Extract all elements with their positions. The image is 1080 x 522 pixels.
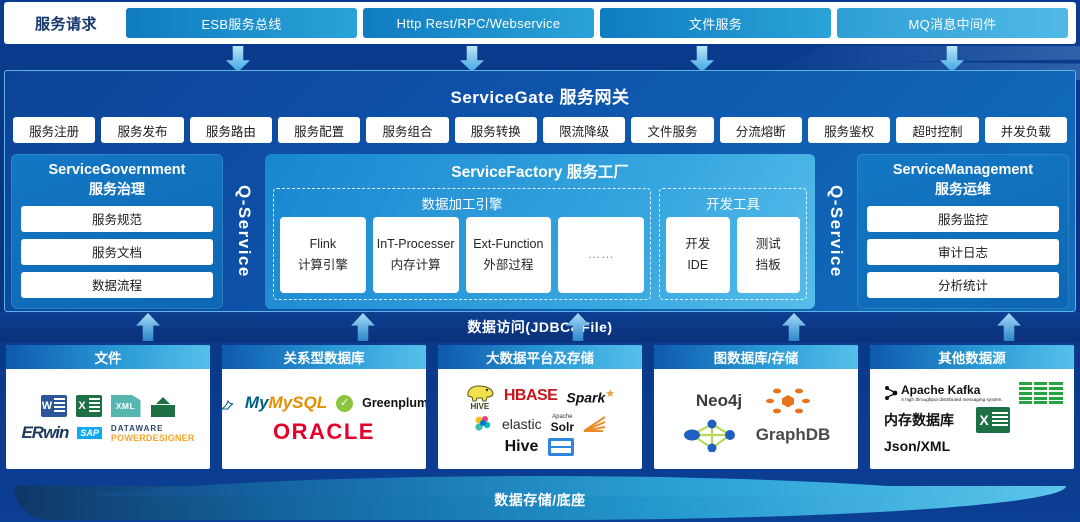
solr-sunburst-icon xyxy=(583,415,607,433)
service-management-card[interactable]: ServiceManagement 服务运维 服务监控 审计日志 分析统计 xyxy=(857,154,1069,309)
engine-tile-more[interactable]: …… xyxy=(558,217,644,293)
engine-tile-int-processer[interactable]: InT-Processer 内存计算 xyxy=(373,217,459,293)
request-button-http-rest[interactable]: Http Rest/RPC/Webservice xyxy=(363,8,594,38)
service-gate-capability-list: 服务注册 服务发布 服务路由 服务配置 服务组合 服务转换 限流降级 文件服务 … xyxy=(5,108,1075,143)
in-memory-db-label: 内存数据库 xyxy=(884,410,954,430)
data-source-card-list: 文件 W X XML ERwin SAP DATAWARE POWERDESIG… xyxy=(4,343,1076,471)
powerdesigner-logo: POWERDESIGNER xyxy=(111,433,195,443)
hadoop-hive-elephant-icon xyxy=(465,382,495,402)
service-request-label: 服务请求 xyxy=(12,13,120,34)
elastic-icon xyxy=(473,415,493,433)
gate-chip-transform[interactable]: 服务转换 xyxy=(455,117,537,143)
arrow-down-1 xyxy=(226,46,250,72)
data-source-card-relational-db[interactable]: 关系型数据库 MyMySQL ✓ Greenplum ORACLE xyxy=(220,343,428,471)
engine-tile-int-processer-line1: InT-Processer xyxy=(377,234,455,255)
elastic-logo: elastic xyxy=(502,416,542,432)
graphdb-ontotext-icon xyxy=(760,386,816,416)
q-service-left-text: Q-Service xyxy=(234,185,254,278)
gate-chip-register[interactable]: 服务注册 xyxy=(13,117,95,143)
spark-logo: Spark★ xyxy=(566,387,615,406)
service-government-title-en: ServiceGovernment xyxy=(21,162,213,179)
dataware-logo: DATAWARE xyxy=(111,424,164,433)
engine-tile-ext-function-line2: 外部过程 xyxy=(483,255,533,276)
kafka-icon xyxy=(884,385,898,401)
engine-tile-int-processer-line2: 内存计算 xyxy=(391,255,441,276)
data-processing-engine-title: 数据加工引擎 xyxy=(280,193,644,213)
data-processing-engine-group: 数据加工引擎 Flink 计算引擎 InT-Processer 内存计算 Ext… xyxy=(273,188,651,300)
gate-chip-ratelimit[interactable]: 限流降级 xyxy=(543,117,625,143)
arrow-down-4 xyxy=(940,46,964,72)
erwin-logo: ERwin xyxy=(21,423,68,443)
management-item-monitor[interactable]: 服务监控 xyxy=(867,206,1059,232)
excel-icon-letter: X xyxy=(76,395,89,417)
card-title-file: 文件 xyxy=(6,345,210,369)
tools-tile-test-line1: 测试 xyxy=(756,234,781,255)
neo4j-graph-icon xyxy=(682,418,742,452)
tools-tile-ide-line1: 开发 xyxy=(685,234,710,255)
card-title-graphdb: 图数据库/存储 xyxy=(654,345,858,369)
management-item-analytics[interactable]: 分析统计 xyxy=(867,272,1059,298)
service-gate-title: ServiceGate 服务网关 xyxy=(5,71,1075,108)
data-source-card-graphdb[interactable]: 图数据库/存储 Neo4j xyxy=(652,343,860,471)
apache-kafka-logo-text: Apache Kafka xyxy=(901,383,980,397)
card-title-other: 其他数据源 xyxy=(870,345,1074,369)
greenplum-logo: Greenplum xyxy=(362,396,428,410)
hive-logo-small: HIVE xyxy=(471,402,490,411)
service-government-card[interactable]: ServiceGovernment 服务治理 服务规范 服务文档 数据流程 xyxy=(11,154,223,309)
request-button-file-service[interactable]: 文件服务 xyxy=(600,8,831,38)
governance-item-dataflow[interactable]: 数据流程 xyxy=(21,272,213,298)
apache-kafka-logo: Apache Kafka A high throughput distribut… xyxy=(901,383,1003,402)
data-source-card-file[interactable]: 文件 W X XML ERwin SAP DATAWARE POWERDESIG… xyxy=(4,343,212,471)
q-service-label-left: Q-Service xyxy=(223,154,265,309)
gate-chip-config[interactable]: 服务配置 xyxy=(278,117,360,143)
tools-tile-test-line2: 挡板 xyxy=(756,255,781,276)
card-title-relational-db: 关系型数据库 xyxy=(222,345,426,369)
hive-file-icon xyxy=(547,437,575,457)
engine-tile-ext-function[interactable]: Ext-Function 外部过程 xyxy=(466,217,552,293)
sap-logo: SAP xyxy=(77,427,102,439)
solr-logo: Solr xyxy=(551,420,574,434)
q-service-right-text: Q-Service xyxy=(826,185,846,278)
service-factory-card: ServiceFactory 服务工厂 数据加工引擎 Flink 计算引擎 In… xyxy=(265,154,815,309)
request-button-esb[interactable]: ESB服务总线 xyxy=(126,8,357,38)
database-green-icon xyxy=(150,395,176,417)
kafka-tagline: A high throughput distributed messaging … xyxy=(901,397,1003,402)
service-management-title-cn: 服务运维 xyxy=(867,179,1059,199)
green-table-icon xyxy=(1019,382,1063,404)
data-storage-foundation: 数据存储/底座 xyxy=(0,476,1080,522)
engine-tile-ext-function-line1: Ext-Function xyxy=(473,234,543,255)
service-request-bar: 服务请求 ESB服务总线 Http Rest/RPC/Webservice 文件… xyxy=(4,2,1076,44)
word-icon: W xyxy=(41,395,67,417)
request-button-mq[interactable]: MQ消息中间件 xyxy=(837,8,1068,38)
mysql-logo: MyMySQL xyxy=(245,393,327,413)
data-access-label: 数据访问(JDBC&File) xyxy=(467,317,612,337)
oracle-logo: ORACLE xyxy=(273,419,375,445)
q-service-label-right: Q-Service xyxy=(815,154,857,309)
greenplum-icon: ✓ xyxy=(336,395,353,412)
arrow-down-2 xyxy=(460,46,484,72)
governance-item-document[interactable]: 服务文档 xyxy=(21,239,213,265)
gate-chip-timeout[interactable]: 超时控制 xyxy=(896,117,978,143)
hbase-logo: HBASE xyxy=(504,387,558,405)
neo4j-logo: Neo4j xyxy=(696,391,742,411)
excel-icon: X xyxy=(76,395,102,417)
engine-tile-flink[interactable]: Flink 计算引擎 xyxy=(280,217,366,293)
tools-tile-ide[interactable]: 开发 IDE xyxy=(666,217,730,293)
card-title-bigdata: 大数据平台及存储 xyxy=(438,345,642,369)
mysql-dolphin-icon xyxy=(220,397,236,410)
service-government-title-cn: 服务治理 xyxy=(21,179,213,199)
spark-logo-text: Spark xyxy=(566,389,605,405)
data-source-card-other[interactable]: 其他数据源 Apache Kafka A high throughput dis… xyxy=(868,343,1076,471)
service-management-title-en: ServiceManagement xyxy=(867,162,1059,179)
engine-tile-flink-line1: Flink xyxy=(310,234,336,255)
gate-chip-concurrency[interactable]: 并发负载 xyxy=(985,117,1067,143)
governance-item-spec[interactable]: 服务规范 xyxy=(21,206,213,232)
mysql-logo-text: MySQL xyxy=(269,393,328,412)
development-tools-title: 开发工具 xyxy=(666,193,800,213)
service-platform-panel: ServiceGate 服务网关 服务注册 服务发布 服务路由 服务配置 服务组… xyxy=(4,70,1076,312)
data-storage-label: 数据存储/底座 xyxy=(0,490,1080,510)
engine-tile-flink-line2: 计算引擎 xyxy=(298,255,348,276)
gate-chip-route[interactable]: 服务路由 xyxy=(190,117,272,143)
tools-tile-test[interactable]: 测试 挡板 xyxy=(737,217,801,293)
hive-logo: Hive xyxy=(505,438,539,456)
data-source-card-bigdata[interactable]: 大数据平台及存储 HIVE HBASE Spark★ xyxy=(436,343,644,471)
management-item-auditlog[interactable]: 审计日志 xyxy=(867,239,1059,265)
platform-middle-row: ServiceGovernment 服务治理 服务规范 服务文档 数据流程 Q-… xyxy=(5,143,1075,309)
service-factory-title: ServiceFactory 服务工厂 xyxy=(273,160,807,182)
gate-chip-compose[interactable]: 服务组合 xyxy=(366,117,448,143)
engine-tile-more-line1: …… xyxy=(588,244,615,265)
excel-green-icon: X xyxy=(976,407,1010,433)
gate-chip-publish[interactable]: 服务发布 xyxy=(101,117,183,143)
gate-chip-auth[interactable]: 服务鉴权 xyxy=(808,117,890,143)
development-tools-group: 开发工具 开发 IDE 测试 挡板 xyxy=(659,188,807,300)
word-icon-letter: W xyxy=(41,395,54,417)
gate-chip-circuit[interactable]: 分流熔断 xyxy=(720,117,802,143)
tools-tile-ide-line2: IDE xyxy=(687,255,708,276)
excel-green-icon-letter: X xyxy=(976,409,992,431)
gate-chip-fileservice[interactable]: 文件服务 xyxy=(631,117,713,143)
arrow-down-3 xyxy=(690,46,714,72)
xml-file-icon: XML xyxy=(111,395,141,417)
data-access-band: 数据访问(JDBC&File) xyxy=(0,312,1080,342)
json-xml-label: Json/XML xyxy=(884,436,950,456)
graphdb-logo: GraphDB xyxy=(756,425,831,445)
